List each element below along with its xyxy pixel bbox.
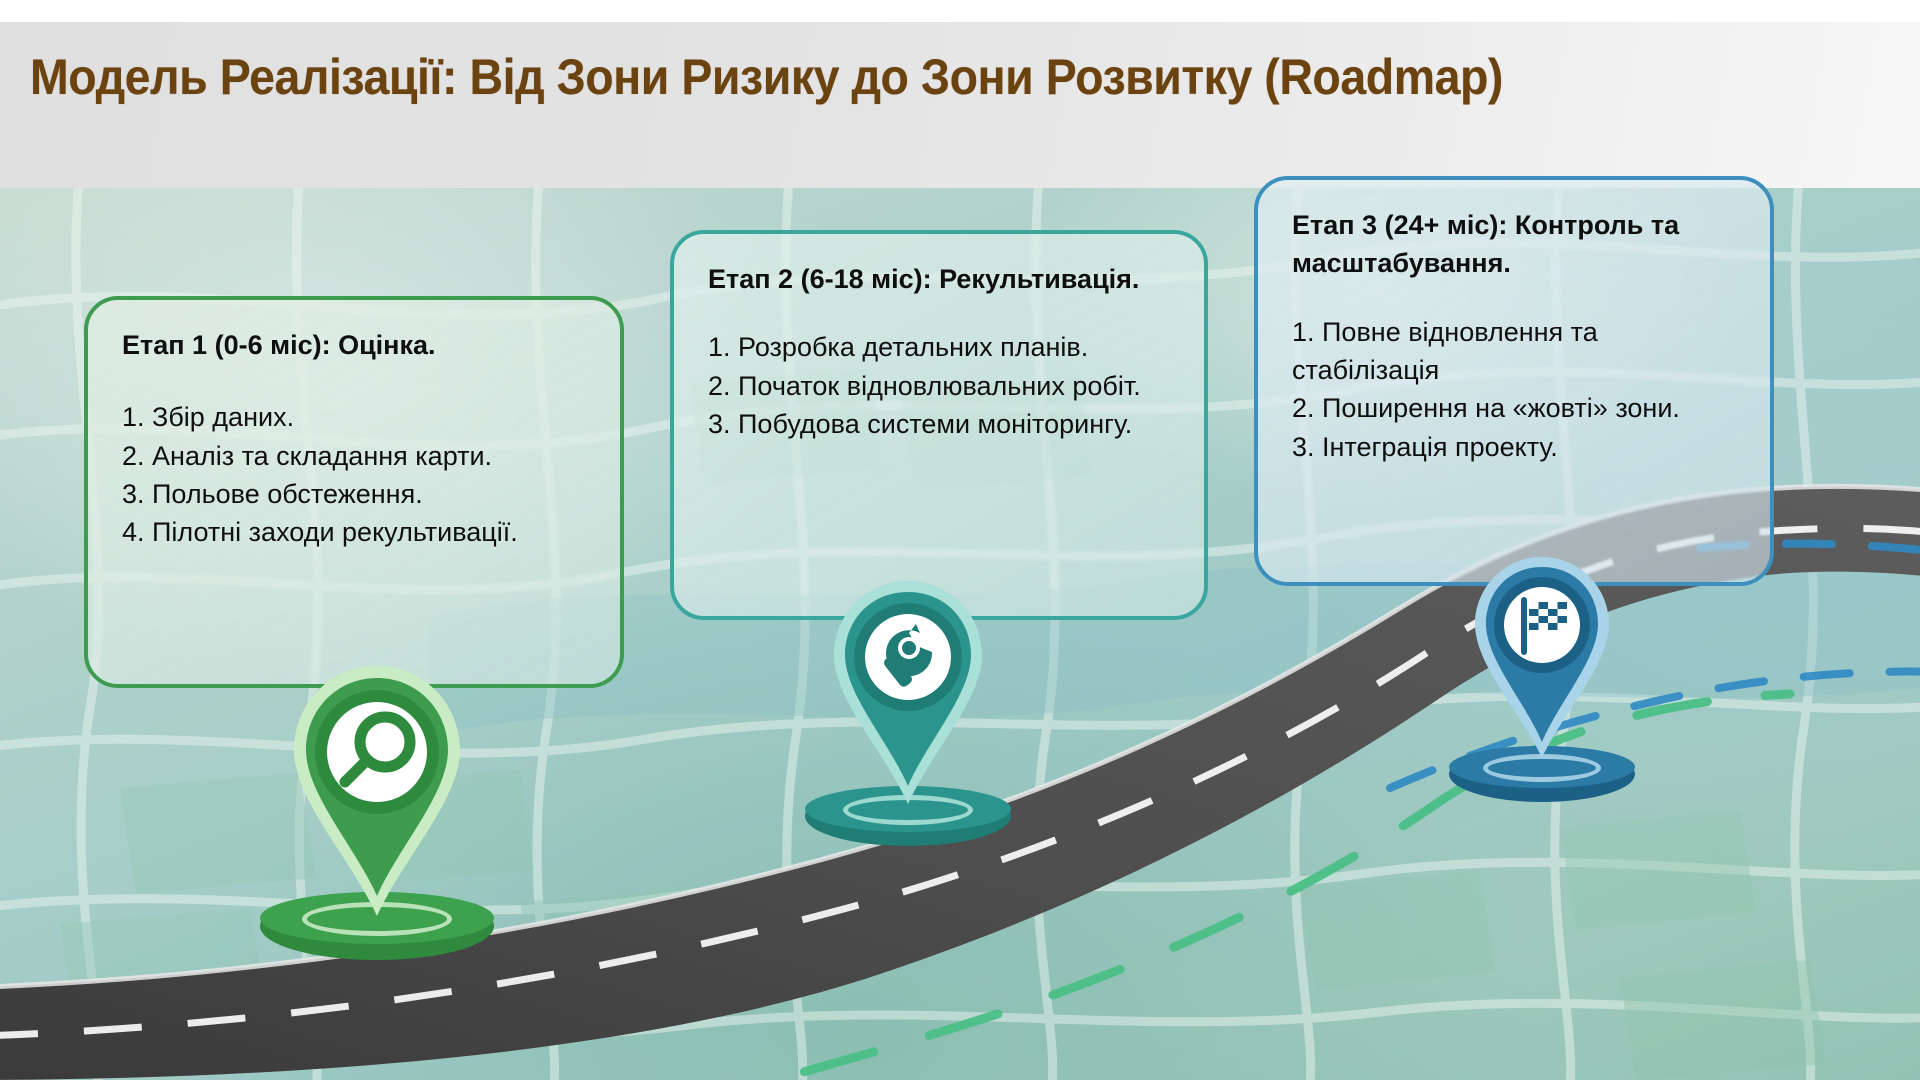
roadmap-slide: Модель Реалізації: Від Зони Ризику до Зо… xyxy=(0,0,1920,1080)
stage-1-title: Етап 1 (0-6 міс): Оцінка. xyxy=(122,326,590,364)
stage-3-title: Етап 3 (24+ міс): Контроль та масштабува… xyxy=(1292,206,1740,283)
stage-2-pin-drop xyxy=(825,576,991,810)
stage-3-body: 1. Повне відновлення та стабілізація 2. … xyxy=(1292,313,1740,466)
stage-3-map-pin[interactable] xyxy=(1452,552,1632,802)
stage-1-body: 1. Збір даних. 2. Аналіз та складання ка… xyxy=(122,398,590,551)
stage-3-callout[interactable]: Етап 3 (24+ міс): Контроль та масштабува… xyxy=(1254,176,1774,586)
stage-1-callout[interactable]: Етап 1 (0-6 міс): Оцінка. 1. Збір даних.… xyxy=(84,296,624,688)
stage-2-body: 1. Розробка детальних планів. 2. Початок… xyxy=(708,328,1174,443)
stage-2-map-pin[interactable] xyxy=(808,576,1008,846)
stage-1-pin-drop xyxy=(282,660,472,922)
stage-2-title: Етап 2 (6-18 міс): Рекультивація. xyxy=(708,260,1174,298)
top-white-strip xyxy=(0,0,1920,24)
stage-3-pin-drop xyxy=(1467,552,1617,764)
stage-2-callout[interactable]: Етап 2 (6-18 міс): Рекультивація. 1. Роз… xyxy=(670,230,1208,620)
page-title: Модель Реалізації: Від Зони Ризику до Зо… xyxy=(30,48,1574,107)
stage-1-map-pin[interactable] xyxy=(262,660,492,960)
